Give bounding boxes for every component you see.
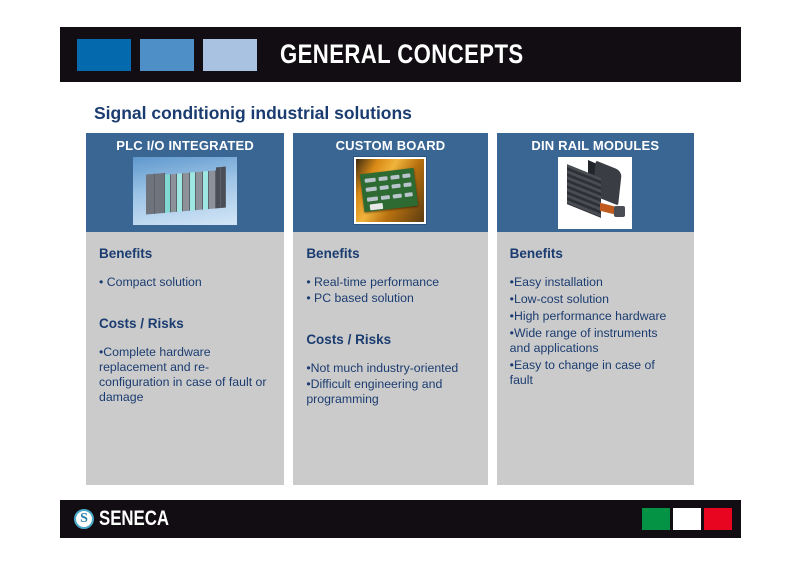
flag-green xyxy=(642,508,670,530)
logo-wordmark: SENECA xyxy=(99,507,169,531)
pcb-illustration xyxy=(356,159,424,222)
seneca-circle-s-icon: S xyxy=(74,509,94,529)
page-title: GENERAL CONCEPTS xyxy=(280,39,524,70)
square-dark-blue xyxy=(77,39,131,71)
list-item: •Complete hardware replacement and re-co… xyxy=(99,345,271,405)
header-decorative-squares xyxy=(77,39,257,71)
list-item: • Real-time performance xyxy=(306,275,474,290)
slide: GENERAL CONCEPTS Signal conditionig indu… xyxy=(0,0,800,565)
custom-pcb-photo xyxy=(354,157,426,224)
list-item: • Compact solution xyxy=(99,275,271,290)
slide-subtitle: Signal conditionig industrial solutions xyxy=(94,103,412,124)
flag-white xyxy=(673,508,701,530)
square-medium-blue xyxy=(140,39,194,71)
section-heading-benefits: Benefits xyxy=(510,246,681,261)
comparison-columns: PLC I/O INTEGRATED xyxy=(86,133,694,485)
column-header-din-rail: DIN RAIL MODULES xyxy=(497,133,694,232)
column-body-din-rail: Benefits •Easy installation •Low-cost so… xyxy=(497,232,694,485)
column-custom-board: CUSTOM BOARD xyxy=(293,133,487,485)
list-item: •Low-cost solution xyxy=(510,292,681,307)
benefits-list: • Real-time performance • PC based solut… xyxy=(306,275,474,306)
din-connector-end xyxy=(614,206,625,217)
italian-flag xyxy=(642,508,732,530)
section-heading-costs-risks: Costs / Risks xyxy=(99,316,271,331)
pcb-board xyxy=(360,168,418,212)
section-heading-costs-risks: Costs / Risks xyxy=(306,332,474,347)
section-heading-benefits: Benefits xyxy=(306,246,474,261)
column-plc-io-integrated: PLC I/O INTEGRATED xyxy=(86,133,284,485)
logo-letter: S xyxy=(80,512,88,526)
costs-risks-list: •Not much industry-oriented •Difficult e… xyxy=(306,361,474,407)
column-title: PLC I/O INTEGRATED xyxy=(116,138,254,153)
benefits-list: • Compact solution xyxy=(99,275,271,290)
list-item: •Difficult engineering and programming xyxy=(306,377,474,407)
slide-header-bar: GENERAL CONCEPTS xyxy=(60,27,741,82)
list-item: •Not much industry-oriented xyxy=(306,361,474,376)
column-body-plc: Benefits • Compact solution Costs / Risk… xyxy=(86,232,284,485)
column-title: CUSTOM BOARD xyxy=(336,138,446,153)
column-body-custom-board: Benefits • Real-time performance • PC ba… xyxy=(293,232,487,485)
costs-risks-list: •Complete hardware replacement and re-co… xyxy=(99,345,271,405)
benefits-list: •Easy installation •Low-cost solution •H… xyxy=(510,275,681,388)
column-din-rail-modules: DIN RAIL MODULES Benefits •Easy installa… xyxy=(497,133,694,485)
plc-rack-photo xyxy=(133,157,237,225)
column-header-custom-board: CUSTOM BOARD xyxy=(293,133,487,232)
column-header-plc: PLC I/O INTEGRATED xyxy=(86,133,284,232)
list-item: •Easy installation xyxy=(510,275,681,290)
list-item: •High performance hardware xyxy=(510,309,681,324)
list-item: •Easy to change in case of fault xyxy=(510,358,681,388)
list-item: • PC based solution xyxy=(306,291,474,306)
column-title: DIN RAIL MODULES xyxy=(531,138,659,153)
square-light-blue xyxy=(203,39,257,71)
section-heading-benefits: Benefits xyxy=(99,246,271,261)
plc-rack-illustration xyxy=(146,168,226,215)
din-rail-modules-photo xyxy=(558,157,632,229)
slide-footer-bar: S SENECA xyxy=(60,500,741,538)
seneca-logo: S SENECA xyxy=(74,507,187,531)
flag-red xyxy=(704,508,732,530)
list-item: •Wide range of instruments and applicati… xyxy=(510,326,681,356)
